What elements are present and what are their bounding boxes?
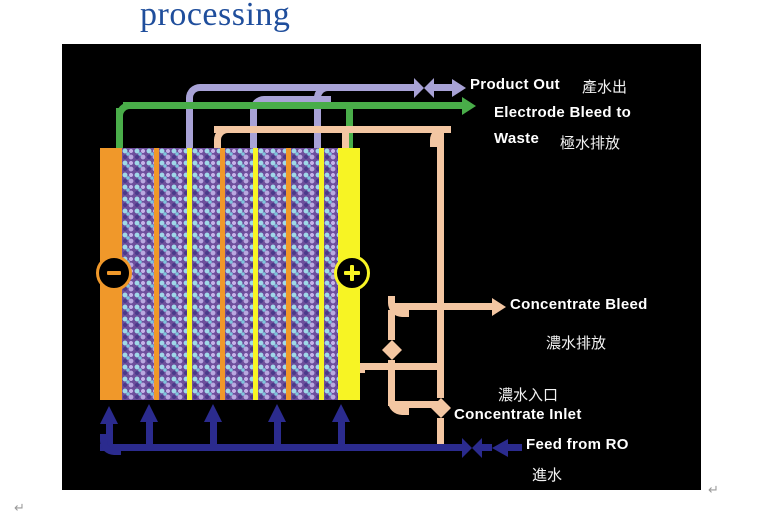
stack-cell-3 [192, 148, 220, 400]
stack-cell-6 [291, 148, 319, 400]
label-electrode-bleed-cn: 極水排放 [560, 132, 620, 153]
edi-stack-diagram: Product Out 產水出 Electrode Bleed to Waste… [62, 44, 701, 490]
feed-riser-3 [210, 422, 217, 448]
product-out-riser-1 [186, 102, 193, 154]
concentrate-bleed-arrowhead [492, 298, 506, 316]
electrode-bleed-header [123, 102, 463, 109]
feed-line-after-valve [482, 444, 492, 451]
cathode-polarity-badge [96, 255, 132, 291]
label-product-out: Product Out [470, 76, 560, 93]
label-electrode-bleed-line2: Waste [494, 130, 539, 147]
stack-cell-5 [258, 148, 286, 400]
label-feed-from-ro-cn: 進水 [532, 464, 562, 485]
stack-cell-4 [225, 148, 253, 400]
concentrate-inlet-valve[interactable] [431, 398, 451, 418]
feed-elbow-1 [100, 434, 121, 455]
label-concentrate-bleed: Concentrate Bleed [510, 296, 648, 313]
product-out-arrowhead [452, 79, 466, 97]
concentrate-main-trunk-upper [437, 126, 444, 306]
concentrate-bleed-left-riser [388, 310, 395, 340]
label-concentrate-bleed-cn: 濃水排放 [546, 332, 606, 353]
feed-riser-1-arrowhead [100, 406, 118, 424]
anode-polarity-badge [334, 255, 370, 291]
page-title: processing [140, 0, 290, 34]
membrane-stack [100, 148, 360, 400]
concentrate-main-trunk-lower [437, 303, 444, 398]
concentrate-trunk-top-elbow [430, 126, 451, 147]
electrode-bleed-arrowhead [462, 97, 476, 115]
label-feed-from-ro: Feed from RO [526, 436, 629, 453]
label-concentrate-inlet: Concentrate Inlet [454, 406, 582, 423]
feed-riser-2 [146, 422, 153, 448]
feed-riser-4 [274, 422, 281, 448]
feed-riser-5-arrowhead [332, 404, 350, 422]
product-out-header-main [203, 84, 399, 91]
feed-riser-4-arrowhead [268, 404, 286, 422]
return-mark-left: ↵ [14, 500, 25, 516]
minus-icon [107, 271, 121, 275]
plus-icon [344, 271, 360, 275]
concentrate-bleed-valve[interactable] [382, 340, 402, 360]
feed-inlet-line [454, 444, 462, 451]
feed-inlet-valve[interactable] [462, 438, 482, 458]
feed-riser-3-arrowhead [204, 404, 222, 422]
stack-cell-2 [159, 148, 187, 400]
product-out-valve[interactable] [414, 78, 434, 98]
label-electrode-bleed-line1: Electrode Bleed to [494, 104, 631, 121]
label-product-out-cn: 產水出 [582, 76, 627, 97]
return-mark-right: ↵ [708, 482, 719, 498]
concentrate-bleed-line [395, 303, 493, 310]
product-out-line-after-valve [434, 84, 452, 91]
feed-inlet-arrowhead [492, 439, 508, 457]
feed-riser-5 [338, 422, 345, 448]
label-concentrate-inlet-cn: 濃水入口 [498, 384, 558, 405]
feed-riser-2-arrowhead [140, 404, 158, 422]
feed-inlet-tail [508, 444, 522, 451]
concentrate-top-header [214, 126, 444, 133]
